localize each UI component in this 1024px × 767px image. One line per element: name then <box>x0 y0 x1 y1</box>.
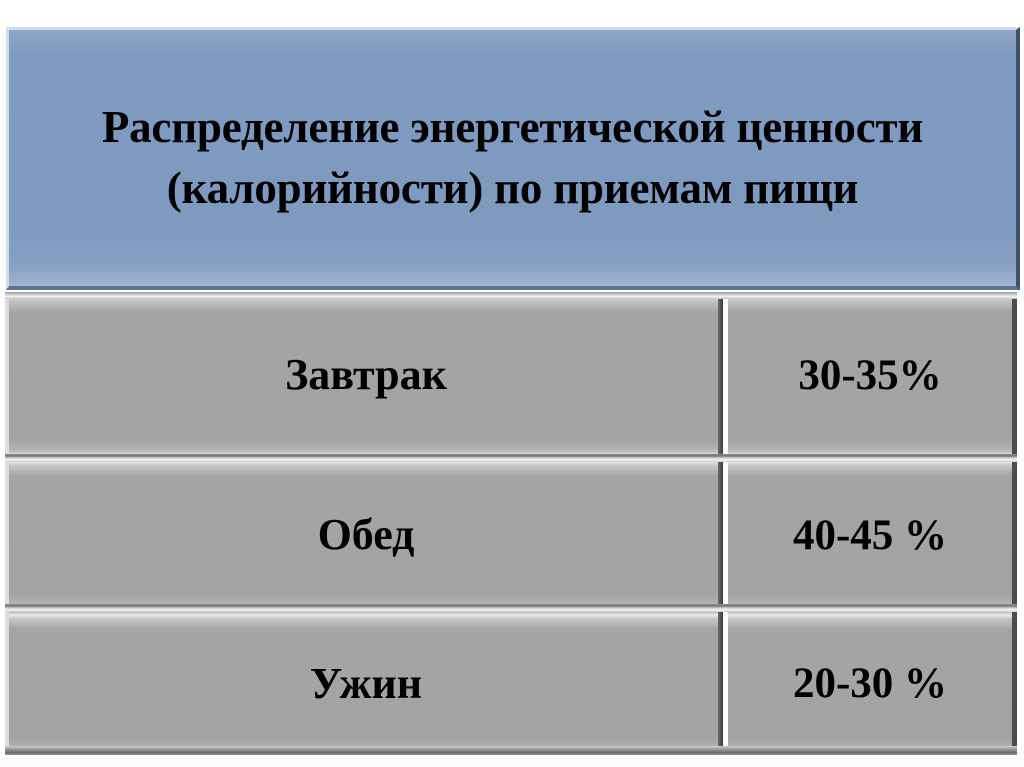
meal-label: Ужин <box>310 662 422 706</box>
title-line-2: (калорийности) по приемам пищи <box>35 158 990 219</box>
meal-label: Завтрак <box>285 353 447 397</box>
title-line-1: Распределение энергетической ценности <box>35 97 990 158</box>
title-panel: Распределение энергетической ценности (к… <box>6 27 1020 290</box>
slide-canvas: Распределение энергетической ценности (к… <box>0 0 1024 767</box>
table-row: Завтрак 30-35% <box>5 292 1017 458</box>
meal-distribution-table: Завтрак 30-35% Обед 40-45 % Ужин 20-30 % <box>5 292 1017 755</box>
meal-label: Обед <box>318 513 415 557</box>
table-row: Обед 40-45 % <box>5 458 1017 612</box>
table-cell-share: 20-30 % <box>723 612 1017 755</box>
table-cell-share: 40-45 % <box>723 458 1017 612</box>
table-cell-meal: Ужин <box>5 612 723 755</box>
table-cell-share: 30-35% <box>723 292 1017 458</box>
share-value: 40-45 % <box>793 514 947 557</box>
bottom-margin-strip <box>0 757 1024 767</box>
table-row: Ужин 20-30 % <box>5 612 1017 755</box>
table-cell-meal: Обед <box>5 458 723 612</box>
share-value: 30-35% <box>798 354 941 397</box>
title-text-block: Распределение энергетической ценности (к… <box>9 97 1016 219</box>
share-value: 20-30 % <box>793 662 947 705</box>
table-cell-meal: Завтрак <box>5 292 723 458</box>
